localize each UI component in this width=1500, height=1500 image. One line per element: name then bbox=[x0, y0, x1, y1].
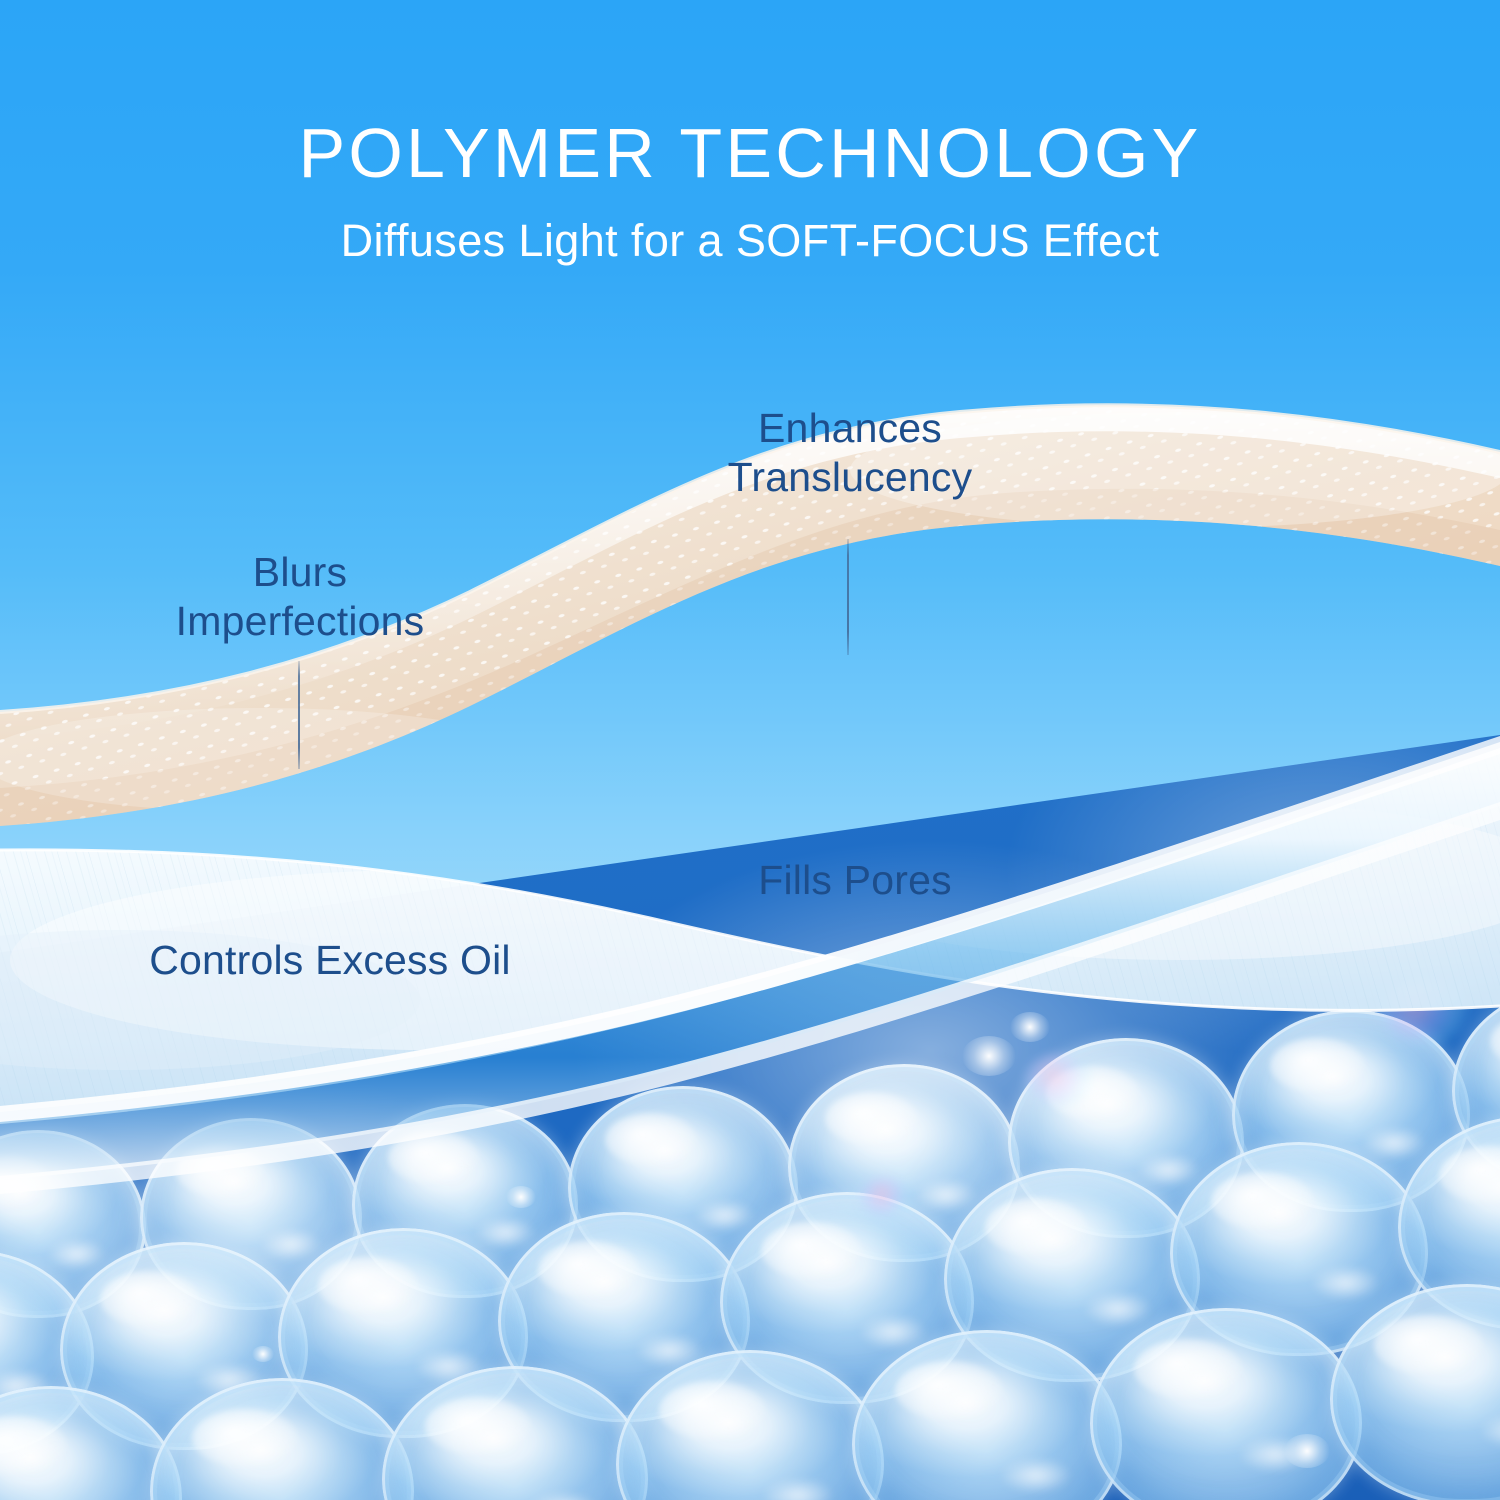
leader-line-enhances-translucency bbox=[847, 539, 849, 655]
leader-line-blurs-imperfections bbox=[298, 661, 300, 769]
page-title: POLYMER TECHNOLOGY bbox=[0, 0, 1500, 188]
infographic-canvas: POLYMER TECHNOLOGY Diffuses Light for a … bbox=[0, 0, 1500, 1500]
page-subtitle: Diffuses Light for a SOFT-FOCUS Effect bbox=[0, 188, 1500, 263]
callout-controls-excess-oil: Controls Excess Oil bbox=[50, 936, 610, 985]
callout-fills-pores: Fills Pores bbox=[645, 856, 1065, 905]
heading-block: POLYMER TECHNOLOGY Diffuses Light for a … bbox=[0, 0, 1500, 263]
callout-blurs-imperfections: Blurs Imperfections bbox=[95, 548, 505, 646]
callout-enhances-translucency: Enhances Translucency bbox=[640, 404, 1060, 502]
